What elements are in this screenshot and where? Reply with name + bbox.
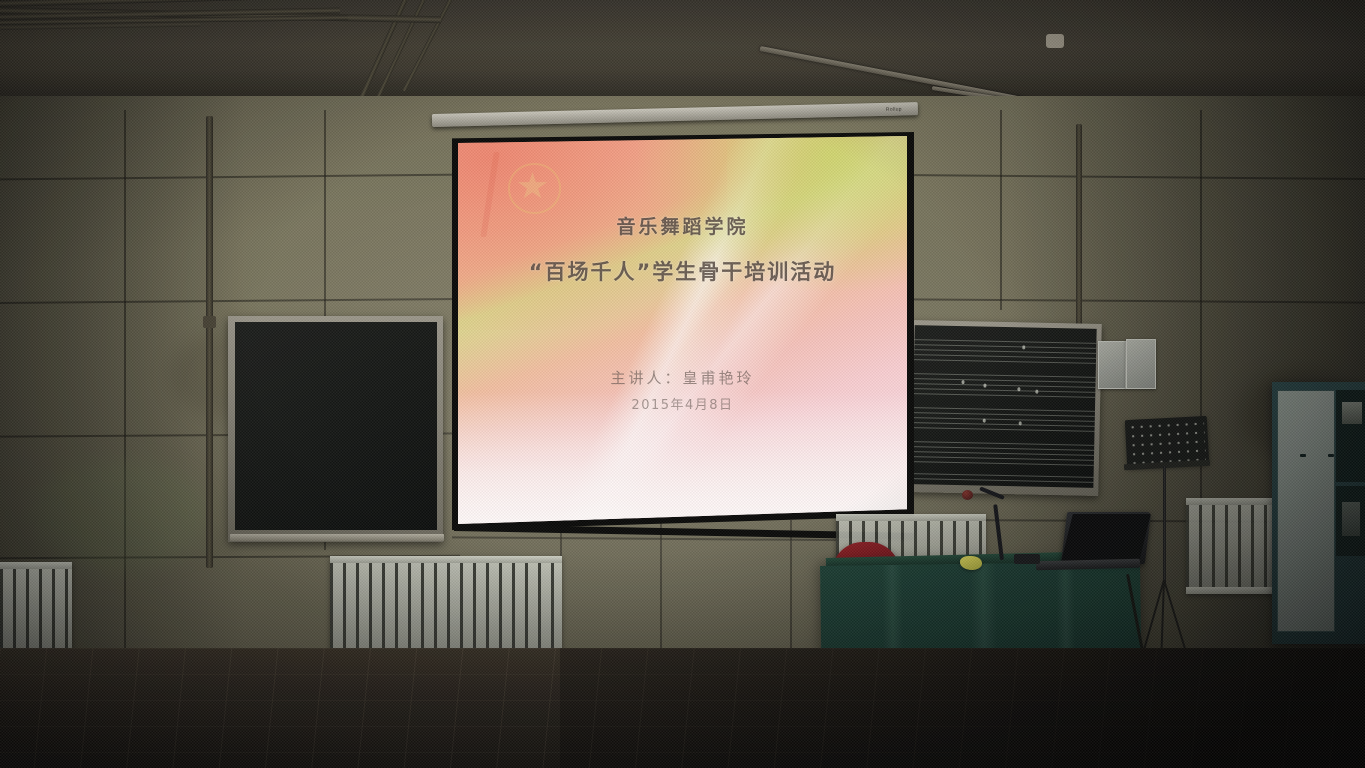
cabinet-handle[interactable] xyxy=(1300,454,1306,457)
blackboard-right-music-staff xyxy=(906,320,1102,496)
music-stand-perforations xyxy=(1128,419,1206,465)
fluorescent-tube-endcap xyxy=(1046,34,1064,48)
cabinet-contents xyxy=(1342,402,1362,424)
blackboard-surface xyxy=(235,322,437,530)
slide-text-block: 音乐舞蹈学院 “百场千人”学生骨干培训活动 主讲人：皇甫艳玲 2015年4月8日 xyxy=(458,136,907,524)
cabinet-contents xyxy=(1342,502,1360,536)
music-stand-pole xyxy=(1163,466,1166,584)
floor-shadow xyxy=(560,648,1365,768)
blackboard-surface xyxy=(911,325,1096,488)
yellow-object-on-table xyxy=(960,556,982,570)
equipment-cabinet[interactable] xyxy=(1272,382,1365,644)
blackboard-left xyxy=(228,316,443,542)
slide-institution: 音乐舞蹈学院 xyxy=(458,212,907,239)
pipe-joint xyxy=(203,316,216,328)
vertical-wall-pipe xyxy=(206,116,213,568)
lecture-hall-photo: Rollup 音乐舞蹈学院 “百场千人”学生骨干培训活动 主讲人：皇甫艳玲 20… xyxy=(0,0,1365,768)
microphone-base xyxy=(1014,554,1040,564)
slide-speaker: 主讲人：皇甫艳玲 xyxy=(458,367,907,388)
notice-panel xyxy=(1098,341,1126,389)
cabinet-handle[interactable] xyxy=(1328,454,1334,457)
laptop-lid[interactable] xyxy=(1061,512,1151,564)
slide-date: 2015年4月8日 xyxy=(458,394,907,413)
cabinet-door[interactable] xyxy=(1277,390,1335,632)
screen-brand-label: Rollup xyxy=(886,107,902,113)
projector-screen[interactable]: 音乐舞蹈学院 “百场千人”学生骨干培训活动 主讲人：皇甫艳玲 2015年4月8日 xyxy=(458,136,907,524)
laptop-screen[interactable] xyxy=(1061,514,1151,561)
notice-panel xyxy=(1126,339,1156,389)
microphone-head[interactable] xyxy=(962,490,973,500)
chalk-tray-left xyxy=(230,534,444,541)
slide-event-title: “百场千人”学生骨干培训活动 xyxy=(458,256,907,286)
